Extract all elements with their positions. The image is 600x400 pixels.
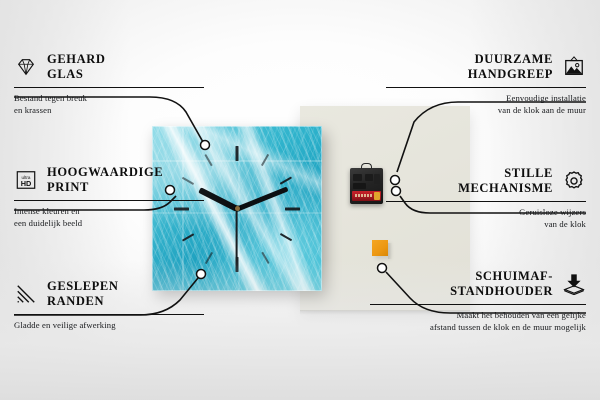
feature-title-line2: HANDGREEP — [468, 67, 553, 82]
gear-icon — [562, 170, 586, 192]
hanger-loop — [361, 163, 372, 169]
feature-title-line2: GLAS — [47, 67, 105, 82]
feature-stille-mechanisme: STILLE MECHANISME Geruisloze wijzers van… — [386, 166, 586, 231]
feature-head: DUURZAME HANDGREEP — [386, 52, 586, 82]
feature-gehard-glas: GEHARD GLAS Bestand tegen breuk en krass… — [14, 52, 204, 117]
feature-divider — [386, 87, 586, 88]
hands-center-cap — [235, 206, 240, 211]
feature-desc-line2: van de klok aan de muur — [386, 104, 586, 116]
feature-title: GESLEPEN RANDEN — [47, 279, 119, 309]
battery-label — [355, 194, 373, 197]
svg-text:HD: HD — [21, 179, 32, 188]
feature-hoogwaardige-print: ultra HD HOOGWAARDIGE PRINT Intense kleu… — [14, 165, 204, 230]
feature-title-line2: MECHANISME — [458, 181, 553, 196]
feature-desc-line2: en krassen — [14, 104, 204, 116]
hour-tick-3 — [285, 207, 300, 210]
feature-title: GEHARD GLAS — [47, 52, 105, 82]
feature-head: SCHUIMAF- STANDHOUDER — [370, 269, 586, 299]
feature-desc: Eenvoudige installatie van de klok aan d… — [386, 92, 586, 117]
feature-title-line1: GESLEPEN — [47, 279, 119, 294]
feature-title-line1: DUURZAME — [468, 52, 553, 67]
hour-tick-12 — [236, 146, 239, 161]
picture-frame-icon — [562, 56, 586, 78]
aa-battery — [352, 191, 381, 201]
feature-desc-line1: Intense kleuren en — [14, 205, 204, 217]
feature-desc: Geruisloze wijzers van de klok — [386, 206, 586, 231]
battery-positive-terminal — [374, 192, 380, 200]
feature-geslepen-randen: GESLEPEN RANDEN Gladde en veilige afwerk… — [14, 279, 204, 331]
second-hand — [236, 209, 238, 266]
feature-desc-line1: Maakt het behouden van een gelijke — [370, 309, 586, 321]
feature-desc-line1: Geruisloze wijzers — [386, 206, 586, 218]
ultra-hd-icon: ultra HD — [14, 169, 38, 191]
feature-desc: Bestand tegen breuk en krassen — [14, 92, 204, 117]
feature-divider — [370, 304, 586, 305]
feature-head: STILLE MECHANISME — [386, 166, 586, 196]
feature-title: DUURZAME HANDGREEP — [468, 52, 553, 82]
feature-head: ultra HD HOOGWAARDIGE PRINT — [14, 165, 204, 195]
feature-title-line2: STANDHOUDER — [450, 284, 553, 299]
feature-schuimafstandhouder: SCHUIMAF- STANDHOUDER Maakt het behouden… — [370, 269, 586, 334]
clock-movement — [350, 168, 383, 204]
feature-head: GESLEPEN RANDEN — [14, 279, 204, 309]
product-infographic: GEHARD GLAS Bestand tegen breuk en krass… — [0, 0, 600, 400]
press-down-pad-icon — [562, 273, 586, 295]
feature-divider — [14, 87, 204, 88]
feature-title: SCHUIMAF- STANDHOUDER — [450, 269, 553, 299]
feature-title: STILLE MECHANISME — [458, 166, 553, 196]
feature-title-line1: STILLE — [458, 166, 553, 181]
feature-desc-line1: Bestand tegen breuk — [14, 92, 204, 104]
movement-detail — [374, 174, 380, 184]
movement-detail — [365, 174, 373, 181]
feature-duurzame-handgreep: DUURZAME HANDGREEP Eenvoudige installati… — [386, 52, 586, 117]
feature-head: GEHARD GLAS — [14, 52, 204, 82]
movement-detail — [353, 174, 362, 181]
feature-divider — [14, 200, 204, 201]
feature-desc-line2: een duidelijk beeld — [14, 217, 204, 229]
feature-title-line1: SCHUIMAF- — [450, 269, 553, 284]
feature-desc-line2: van de klok — [386, 218, 586, 230]
feature-title-line1: GEHARD — [47, 52, 105, 67]
feature-desc: Intense kleuren en een duidelijk beeld — [14, 205, 204, 230]
beveled-edges-icon — [14, 283, 38, 305]
feature-title: HOOGWAARDIGE PRINT — [47, 165, 163, 195]
feature-title-line1: HOOGWAARDIGE — [47, 165, 163, 180]
feature-desc: Maakt het behouden van een gelijke afsta… — [370, 309, 586, 334]
feature-divider — [386, 201, 586, 202]
feature-title-line2: RANDEN — [47, 294, 119, 309]
feature-desc-line2: afstand tussen de klok en de muur mogeli… — [370, 321, 586, 333]
diamond-icon — [14, 56, 38, 78]
feature-desc-line1: Gladde en veilige afwerking — [14, 319, 204, 331]
feature-desc: Gladde en veilige afwerking — [14, 319, 204, 331]
feature-divider — [14, 314, 204, 315]
foam-spacer — [372, 240, 388, 256]
movement-detail — [353, 183, 366, 189]
feature-desc-line1: Eenvoudige installatie — [386, 92, 586, 104]
feature-title-line2: PRINT — [47, 180, 163, 195]
